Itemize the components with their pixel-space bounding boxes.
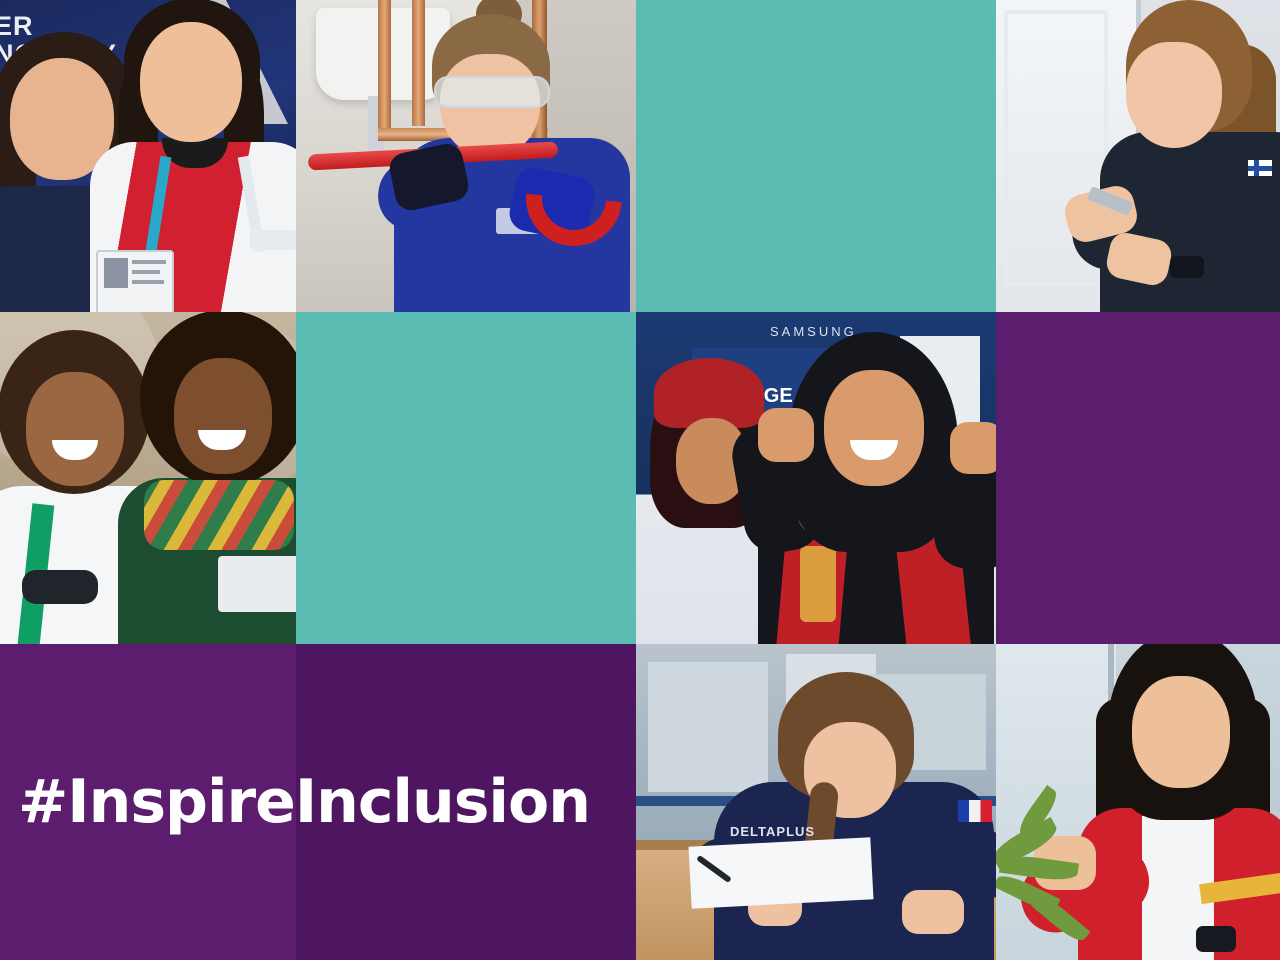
medallist-person — [742, 336, 996, 644]
jacket-brand-text: DELTAPLUS — [730, 824, 815, 839]
tile-purple-block-row2 — [996, 312, 1280, 644]
plumbing-competitor-photo — [296, 0, 636, 312]
wristwatch — [1196, 926, 1236, 952]
team-badge — [218, 556, 296, 612]
floristry-person — [1050, 644, 1280, 960]
safety-goggles — [434, 76, 550, 108]
wristwatch — [1170, 256, 1204, 278]
campaign-hashtag: #InspireInclusion — [0, 767, 590, 837]
tile-plumbing-competitor — [296, 0, 636, 312]
two-women-laughing-photo — [0, 312, 296, 644]
tile-competitor-writing: DELTAPLUS — [636, 644, 996, 960]
poster-collage: ER NOLOGY — [0, 0, 1280, 960]
tile-teal-block-row2 — [296, 312, 636, 644]
tile-floristry-competitor — [996, 644, 1280, 960]
france-flag-icon — [958, 800, 992, 822]
door-fitting-competitor-photo — [996, 0, 1280, 312]
door-fitting-person — [1082, 4, 1280, 312]
tile-two-competitors-selfie: ER NOLOGY — [0, 0, 296, 312]
tile-door-fitting-competitor — [996, 0, 1280, 312]
gold-medallist-photo: Skills CHANGE WORLDS SAMSUNG — [636, 312, 996, 644]
tile-two-women-laughing — [0, 312, 296, 644]
two-competitors-selfie-photo: ER NOLOGY — [0, 0, 296, 312]
tile-gold-medallist: Skills CHANGE WORLDS SAMSUNG — [636, 312, 996, 644]
national-scarf — [144, 480, 294, 550]
accreditation-badge — [96, 250, 174, 312]
sunglasses — [22, 570, 98, 604]
floristry-competitor-photo — [996, 644, 1280, 960]
tile-teal-block-row1 — [636, 0, 996, 312]
campaign-hashtag-block: #InspireInclusion — [0, 644, 636, 960]
competitor-writing-photo: DELTAPLUS — [636, 644, 996, 960]
woman-right — [126, 324, 296, 644]
